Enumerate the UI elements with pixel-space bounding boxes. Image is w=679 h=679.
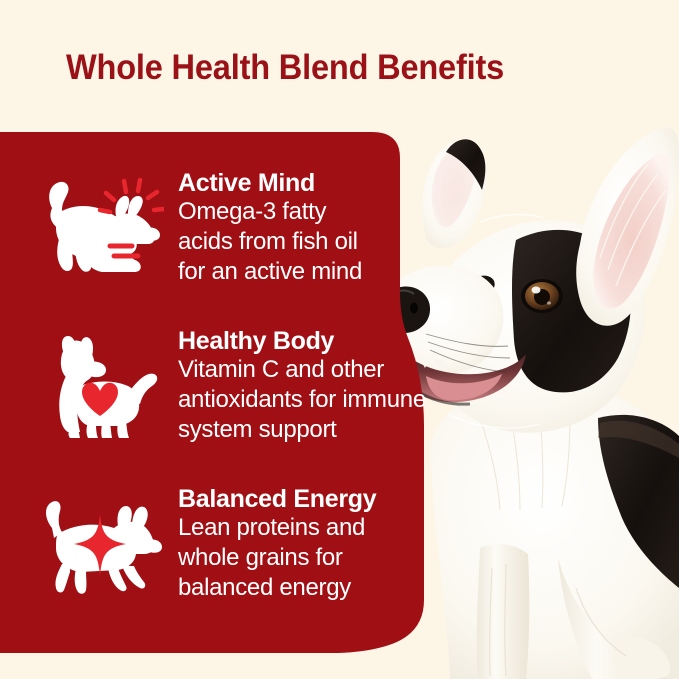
benefit-text-block: Balanced Energy Lean proteins and whole … [178, 486, 428, 603]
benefit-text-block: Active Mind Omega-3 fatty acids from fis… [178, 170, 428, 287]
benefit-description: Lean proteins and whole grains for balan… [178, 513, 428, 603]
benefit-item-active-mind: Active Mind Omega-3 fatty acids from fis… [36, 170, 428, 287]
running-dog-with-spark-icon [36, 494, 164, 598]
benefit-desc-line: whole grains for [178, 543, 428, 573]
benefit-description: Omega-3 fatty acids from fish oil for an… [178, 197, 428, 287]
benefit-desc-line: antioxidants for immune [178, 385, 428, 415]
benefit-desc-line: acids from fish oil [178, 227, 428, 257]
benefit-desc-line: Lean proteins and [178, 513, 428, 543]
benefit-desc-line: for an active mind [178, 257, 428, 287]
benefit-desc-line: system support [178, 415, 428, 445]
benefit-item-healthy-body: Healthy Body Vitamin C and other antioxi… [36, 328, 428, 445]
benefit-title: Healthy Body [178, 328, 428, 355]
benefit-title: Active Mind [178, 170, 428, 197]
playful-dog-icon [36, 178, 164, 282]
dog-with-heart-icon [36, 336, 164, 440]
benefit-desc-line: Omega-3 fatty [178, 197, 428, 227]
benefit-desc-line: Vitamin C and other [178, 355, 428, 385]
page-title: Whole Health Blend Benefits [66, 48, 504, 88]
benefit-text-block: Healthy Body Vitamin C and other antioxi… [178, 328, 428, 445]
benefit-title: Balanced Energy [178, 486, 428, 513]
benefit-desc-line: balanced energy [178, 573, 428, 603]
benefit-description: Vitamin C and other antioxidants for imm… [178, 355, 428, 445]
benefit-item-balanced-energy: Balanced Energy Lean proteins and whole … [36, 486, 428, 603]
promo-banner: Whole Health Blend Benefits [0, 0, 679, 679]
